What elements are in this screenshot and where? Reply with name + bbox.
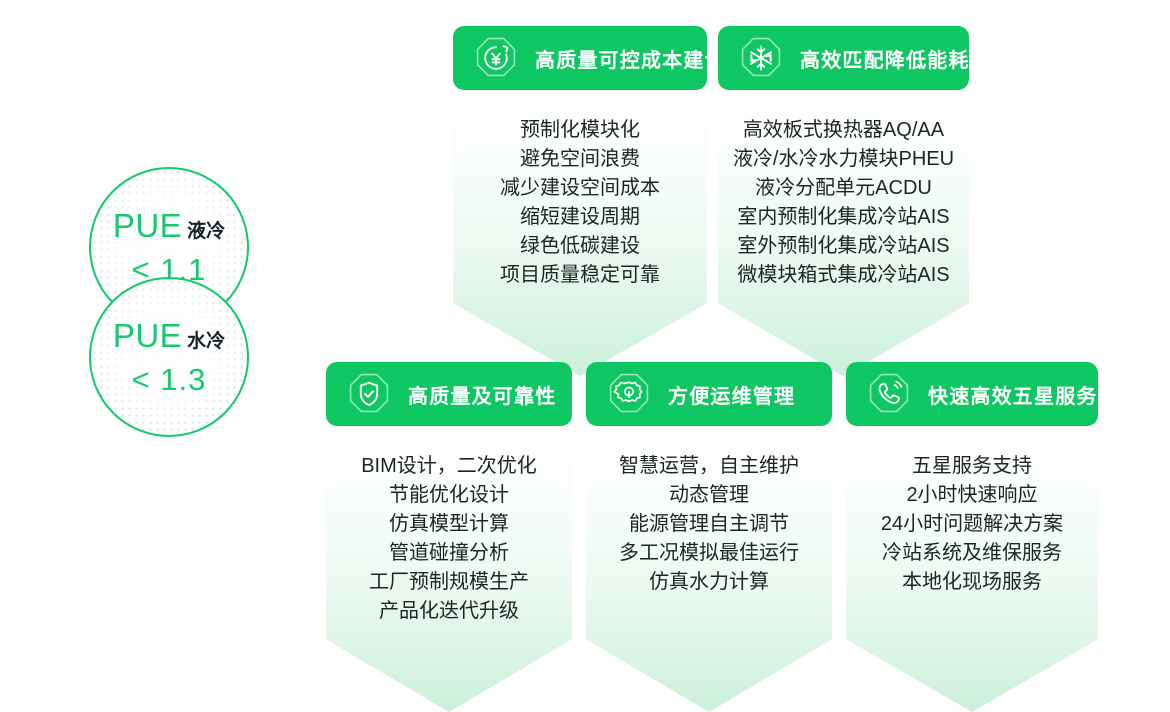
list-item: 24小时问题解决方案 (881, 510, 1063, 539)
card-title: 高质量及可靠性 (408, 380, 556, 409)
list-item: 智慧运营，自主维护 (619, 452, 799, 481)
pue-label-row: PUE 液冷 (113, 209, 225, 242)
card-title: 高效匹配降低能耗 (800, 44, 970, 73)
card-operation-management: 方便运维管理 智慧运营，自主维护 动态管理 能源管理自主调节 多工况模拟最佳运行… (586, 362, 832, 712)
card-feature-list: 预制化模块化 避免空间浪费 减少建设空间成本 缩短建设周期 绿色低碳建设 项目质… (453, 96, 707, 376)
list-item: 缩短建设周期 (520, 203, 640, 232)
list-item: 冷站系统及维保服务 (882, 539, 1062, 568)
list-item: 仿真模型计算 (389, 510, 509, 539)
card-title: 方便运维管理 (668, 380, 795, 409)
list-item: 2小时快速响应 (906, 481, 1037, 510)
pue-label: PUE (113, 319, 182, 352)
infographic-canvas: PUE 液冷 < 1.1 PUE 水冷 < 1.3 高质量 (0, 0, 1170, 704)
list-item: 管道碰撞分析 (389, 539, 509, 568)
card-energy-efficiency: 高效匹配降低能耗 高效板式换热器AQ/AA 液冷/水冷水力模块PHEU 液冷分配… (718, 26, 969, 376)
list-item: 减少建设空间成本 (500, 174, 660, 203)
card-header[interactable]: 高效匹配降低能耗 (718, 26, 969, 90)
list-item: 液冷/水冷水力模块PHEU (733, 145, 954, 174)
list-item: 绿色低碳建设 (520, 232, 640, 261)
list-item: 动态管理 (669, 481, 749, 510)
list-item: 节能优化设计 (389, 481, 509, 510)
list-item: 室内预制化集成冷站AIS (737, 203, 949, 232)
list-item: 多工况模拟最佳运行 (619, 539, 799, 568)
list-item: 仿真水力计算 (649, 568, 769, 597)
list-item: 微模块箱式集成冷站AIS (737, 261, 949, 290)
card-header[interactable]: 方便运维管理 (586, 362, 832, 426)
yuan-refresh-icon (473, 35, 519, 81)
card-quality-reliability: 高质量及可靠性 BIM设计，二次优化 节能优化设计 仿真模型计算 管道碰撞分析 … (326, 362, 572, 712)
card-cost-construction: 高质量可控成本建设 预制化模块化 避免空间浪费 减少建设空间成本 缩短建设周期 … (453, 26, 707, 376)
pue-metrics-group: PUE 液冷 < 1.1 PUE 水冷 < 1.3 (83, 167, 258, 437)
pue-circle-water-cooling: PUE 水冷 < 1.3 (89, 277, 249, 437)
pue-label-row: PUE 水冷 (113, 319, 225, 352)
card-title: 快速高效五星服务 (928, 380, 1098, 409)
list-item: 室外预制化集成冷站AIS (737, 232, 949, 261)
list-item: 工厂预制规模生产 (369, 568, 529, 597)
card-header[interactable]: 高质量及可靠性 (326, 362, 572, 426)
list-item: 预制化模块化 (520, 116, 640, 145)
card-header[interactable]: 快速高效五星服务 (846, 362, 1098, 426)
list-item: 五星服务支持 (912, 452, 1032, 481)
card-feature-list: 五星服务支持 2小时快速响应 24小时问题解决方案 冷站系统及维保服务 本地化现… (846, 432, 1098, 712)
snowflake-icon (738, 35, 784, 81)
list-item: BIM设计，二次优化 (361, 452, 537, 481)
list-item: 能源管理自主调节 (629, 510, 789, 539)
pue-label: PUE (113, 209, 182, 242)
list-item: 液冷分配单元ACDU (755, 174, 932, 203)
pue-mode-label: 液冷 (187, 222, 225, 241)
card-feature-list: 智慧运营，自主维护 动态管理 能源管理自主调节 多工况模拟最佳运行 仿真水力计算 (586, 432, 832, 712)
gear-icon (606, 371, 652, 417)
card-title: 高质量可控成本建设 (535, 44, 726, 73)
pue-mode-label: 水冷 (187, 332, 225, 351)
pue-value: < 1.3 (132, 364, 207, 395)
card-header[interactable]: 高质量可控成本建设 (453, 26, 707, 90)
card-five-star-service: 快速高效五星服务 五星服务支持 2小时快速响应 24小时问题解决方案 冷站系统及… (846, 362, 1098, 712)
phone-call-icon (866, 371, 912, 417)
list-item: 产品化迭代升级 (379, 597, 519, 626)
card-feature-list: 高效板式换热器AQ/AA 液冷/水冷水力模块PHEU 液冷分配单元ACDU 室内… (718, 96, 969, 376)
list-item: 高效板式换热器AQ/AA (743, 116, 944, 145)
list-item: 本地化现场服务 (902, 568, 1042, 597)
shield-check-icon (346, 371, 392, 417)
list-item: 项目质量稳定可靠 (500, 261, 660, 290)
card-feature-list: BIM设计，二次优化 节能优化设计 仿真模型计算 管道碰撞分析 工厂预制规模生产… (326, 432, 572, 712)
list-item: 避免空间浪费 (520, 145, 640, 174)
